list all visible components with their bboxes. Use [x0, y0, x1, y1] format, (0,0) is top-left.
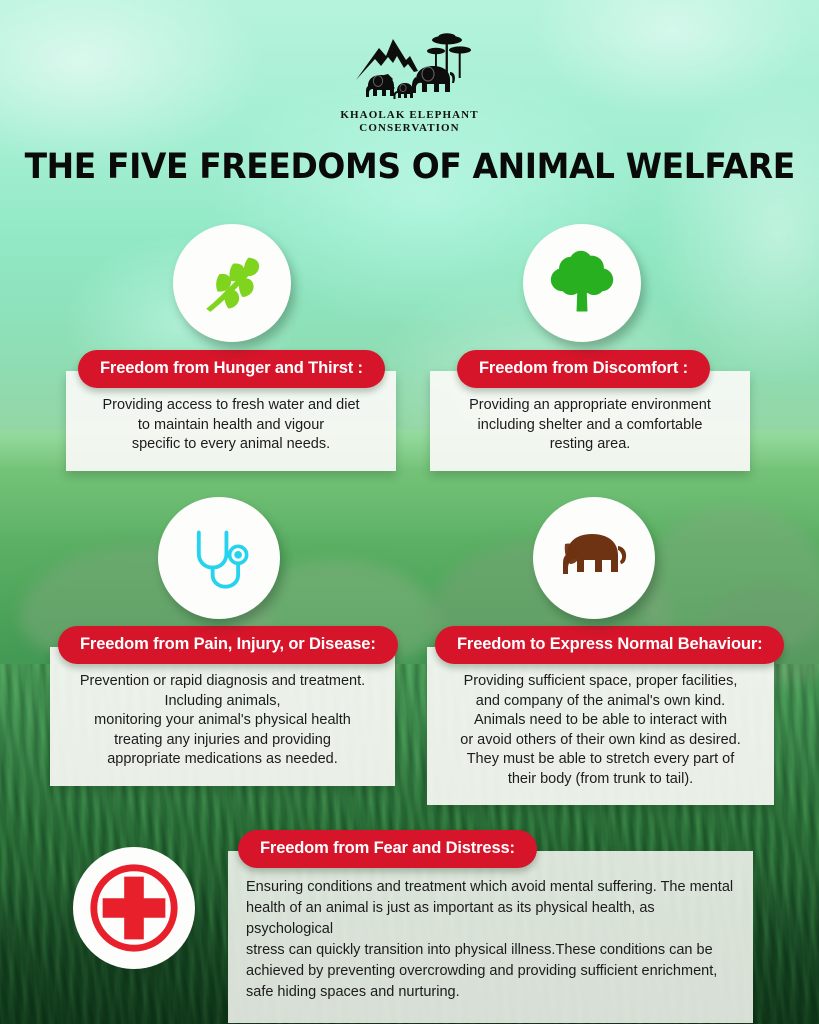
card-line: health of an animal is just as important… — [246, 898, 735, 940]
card-line: monitoring your animal's physical health — [66, 711, 379, 731]
icon-badge-elephant — [533, 497, 655, 619]
freedom-card-pain-injury-disease: Freedom from Pain, Injury, or Disease: P… — [50, 626, 395, 786]
card-line: their body (from trunk to tail). — [443, 770, 758, 790]
card-line: safe hiding spaces and nurturing. — [246, 982, 735, 1003]
card-line: Ensuring conditions and treatment which … — [246, 877, 735, 898]
card-heading: Freedom from Discomfort : — [457, 350, 710, 388]
card-line: achieved by preventing overcrowding and … — [246, 961, 735, 982]
page-title: THE FIVE FREEDOMS OF ANIMAL WELFARE — [25, 147, 795, 187]
card-line: Including animals, — [66, 692, 379, 712]
card-line: specific to every animal needs. — [82, 435, 380, 455]
icon-badge-medical-cross — [73, 847, 195, 969]
elephant-mountain-logo-icon — [348, 26, 472, 104]
icon-badge-tree — [523, 224, 641, 342]
card-line: and company of the animal's own kind. — [443, 692, 758, 712]
brand-logo: KHAOLAK ELEPHANT CONSERVATION — [0, 26, 819, 135]
icon-badge-leaf — [173, 224, 291, 342]
freedom-card-express-normal-behaviour: Freedom to Express Normal Behaviour: Pro… — [427, 626, 774, 805]
card-line: Prevention or rapid diagnosis and treatm… — [66, 672, 379, 692]
freedom-card-hunger-and-thirst: Freedom from Hunger and Thirst : Providi… — [66, 350, 396, 471]
card-body: Ensuring conditions and treatment which … — [228, 851, 753, 1023]
card-line: Providing an appropriate environment — [446, 396, 734, 416]
tree-icon — [547, 248, 617, 318]
card-body: Providing sufficient space, proper facil… — [427, 647, 774, 805]
card-line: Providing sufficient space, proper facil… — [443, 672, 758, 692]
infographic-poster: KHAOLAK ELEPHANT CONSERVATION THE FIVE F… — [0, 0, 819, 1024]
icon-badge-stethoscope — [158, 497, 280, 619]
freedom-card-discomfort: Freedom from Discomfort : Providing an a… — [430, 350, 750, 471]
card-line: They must be able to stretch every part … — [443, 750, 758, 770]
leaf-branch-icon — [199, 250, 265, 316]
medical-cross-icon — [85, 859, 183, 957]
freedom-card-fear-and-distress: Freedom from Fear and Distress: Ensuring… — [228, 830, 753, 1023]
card-heading: Freedom from Pain, Injury, or Disease: — [58, 626, 398, 664]
card-line: stress can quickly transition into physi… — [246, 940, 735, 961]
card-line: resting area. — [446, 435, 734, 455]
brand-name-line1: KHAOLAK ELEPHANT — [340, 109, 478, 122]
card-line: or avoid others of their own kind as des… — [443, 731, 758, 751]
card-line: to maintain health and vigour — [82, 416, 380, 436]
brand-name: KHAOLAK ELEPHANT CONSERVATION — [340, 109, 478, 135]
elephant-icon — [555, 523, 633, 593]
card-line: treating any injuries and providing — [66, 731, 379, 751]
card-line: including shelter and a comfortable — [446, 416, 734, 436]
card-heading: Freedom from Hunger and Thirst : — [78, 350, 385, 388]
brand-name-line2: CONSERVATION — [340, 122, 478, 135]
card-body: Prevention or rapid diagnosis and treatm… — [50, 647, 395, 786]
card-line: Providing access to fresh water and diet — [82, 396, 380, 416]
card-line: Animals need to be able to interact with — [443, 711, 758, 731]
card-heading: Freedom to Express Normal Behaviour: — [435, 626, 784, 664]
card-heading: Freedom from Fear and Distress: — [238, 830, 537, 868]
card-line: appropriate medications as needed. — [66, 750, 379, 770]
stethoscope-icon — [185, 524, 253, 592]
